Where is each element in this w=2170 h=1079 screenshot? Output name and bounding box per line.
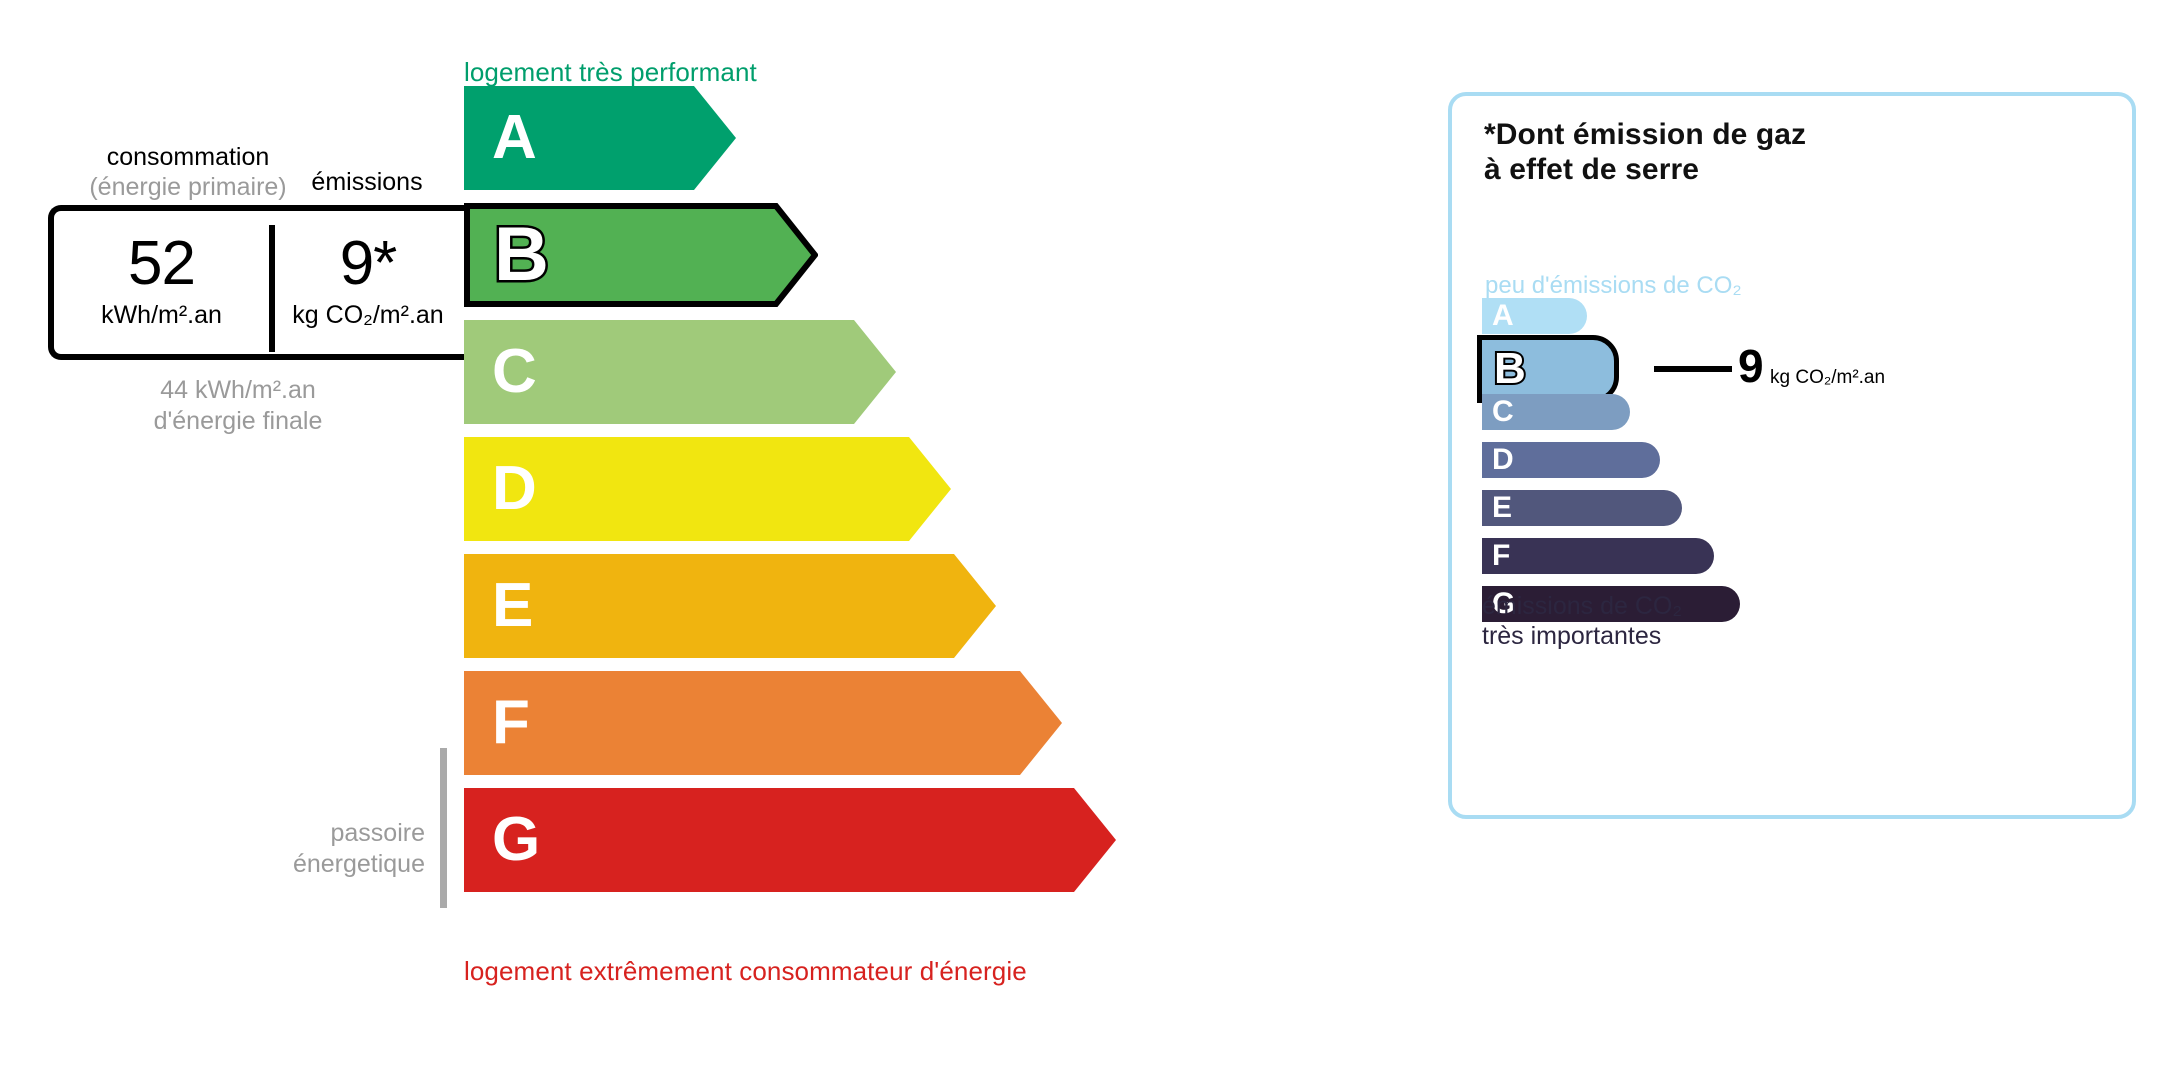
ges-class-b: B: [1477, 335, 1619, 403]
ges-title: *Dont émission de gaz à effet de serre: [1484, 118, 1806, 188]
ges-panel: *Dont émission de gaz à effet de serre p…: [1448, 92, 2136, 819]
ges-class-letter-e: E: [1492, 493, 1512, 523]
emissions-unit: kg CO₂/m².an: [292, 301, 443, 330]
consumption-label: consommation: [68, 143, 308, 172]
energy-class-letter-e: E: [492, 575, 533, 637]
ges-class-letter-f: F: [1492, 541, 1510, 571]
energy-class-letter-c: C: [492, 341, 537, 403]
ges-class-d: D: [1482, 442, 1660, 478]
energy-arrow-shape-e: [464, 554, 996, 658]
passoire-label: passoire énergetique: [245, 818, 425, 879]
energy-class-a: A: [464, 86, 736, 190]
energy-class-letter-f: F: [492, 692, 530, 754]
ges-leader-line: [1654, 366, 1732, 372]
ges-value: 9: [1738, 343, 1764, 389]
passoire-label-line1: passoire: [245, 818, 425, 849]
ges-value-unit: kg CO₂/m².an: [1770, 367, 1885, 389]
final-energy-note-line2: d'énergie finale: [48, 406, 428, 437]
consumption-sublabel: (énergie primaire): [48, 173, 328, 202]
emissions-label: émissions: [294, 168, 440, 197]
energy-class-b: B: [464, 203, 818, 307]
energy-class-e: E: [464, 554, 996, 658]
energy-class-letter-a: A: [492, 107, 537, 169]
consumption-value-cell: 52 kWh/m².an: [54, 211, 269, 354]
scale-bottom-caption: logement extrêmement consommateur d'éner…: [464, 956, 1027, 987]
scale-top-caption: logement très performant: [464, 57, 757, 88]
consumption-value: 52: [128, 235, 195, 294]
final-energy-note: 44 kWh/m².an d'énergie finale: [48, 375, 428, 436]
passoire-indicator-bar: [440, 748, 447, 908]
ges-bottom-caption: émissions de CO₂ très importantes: [1482, 591, 1682, 651]
ges-class-letter-a: A: [1492, 301, 1514, 331]
energy-arrow-shape-g: [464, 788, 1116, 892]
ges-bottom-caption-line1: émissions de CO₂: [1482, 591, 1682, 621]
consumption-unit: kWh/m².an: [101, 301, 222, 330]
ges-class-letter-b: B: [1494, 347, 1526, 391]
energy-class-letter-d: D: [492, 458, 537, 520]
ges-class-a: A: [1482, 298, 1587, 334]
energy-arrow-shape-f: [464, 671, 1062, 775]
ges-title-line2: à effet de serre: [1484, 153, 1806, 188]
energy-class-f: F: [464, 671, 1062, 775]
ges-top-caption: peu d'émissions de CO₂: [1485, 272, 1742, 300]
energy-class-letter-b: B: [494, 217, 549, 293]
energy-class-g: G: [464, 788, 1116, 892]
energy-class-c: C: [464, 320, 896, 424]
emissions-value: 9*: [340, 235, 397, 294]
ges-title-line1: *Dont émission de gaz: [1484, 118, 1806, 153]
energy-class-letter-g: G: [492, 809, 540, 871]
ges-class-e: E: [1482, 490, 1682, 526]
dpe-energy-scale: logement très performant consommation (é…: [0, 0, 1430, 1079]
ges-class-letter-d: D: [1492, 445, 1514, 475]
emissions-value-cell: 9* kg CO₂/m².an: [270, 211, 466, 354]
ges-class-f: F: [1482, 538, 1714, 574]
ges-bottom-caption-line2: très importantes: [1482, 621, 1682, 651]
final-energy-note-line1: 44 kWh/m².an: [48, 375, 428, 406]
value-box: 52 kWh/m².an 9* kg CO₂/m².an: [48, 205, 466, 360]
passoire-label-line2: énergetique: [245, 849, 425, 880]
ges-class-letter-c: C: [1492, 397, 1514, 427]
energy-class-d: D: [464, 437, 951, 541]
energy-arrow-shape-d: [464, 437, 951, 541]
ges-class-c: C: [1482, 394, 1630, 430]
